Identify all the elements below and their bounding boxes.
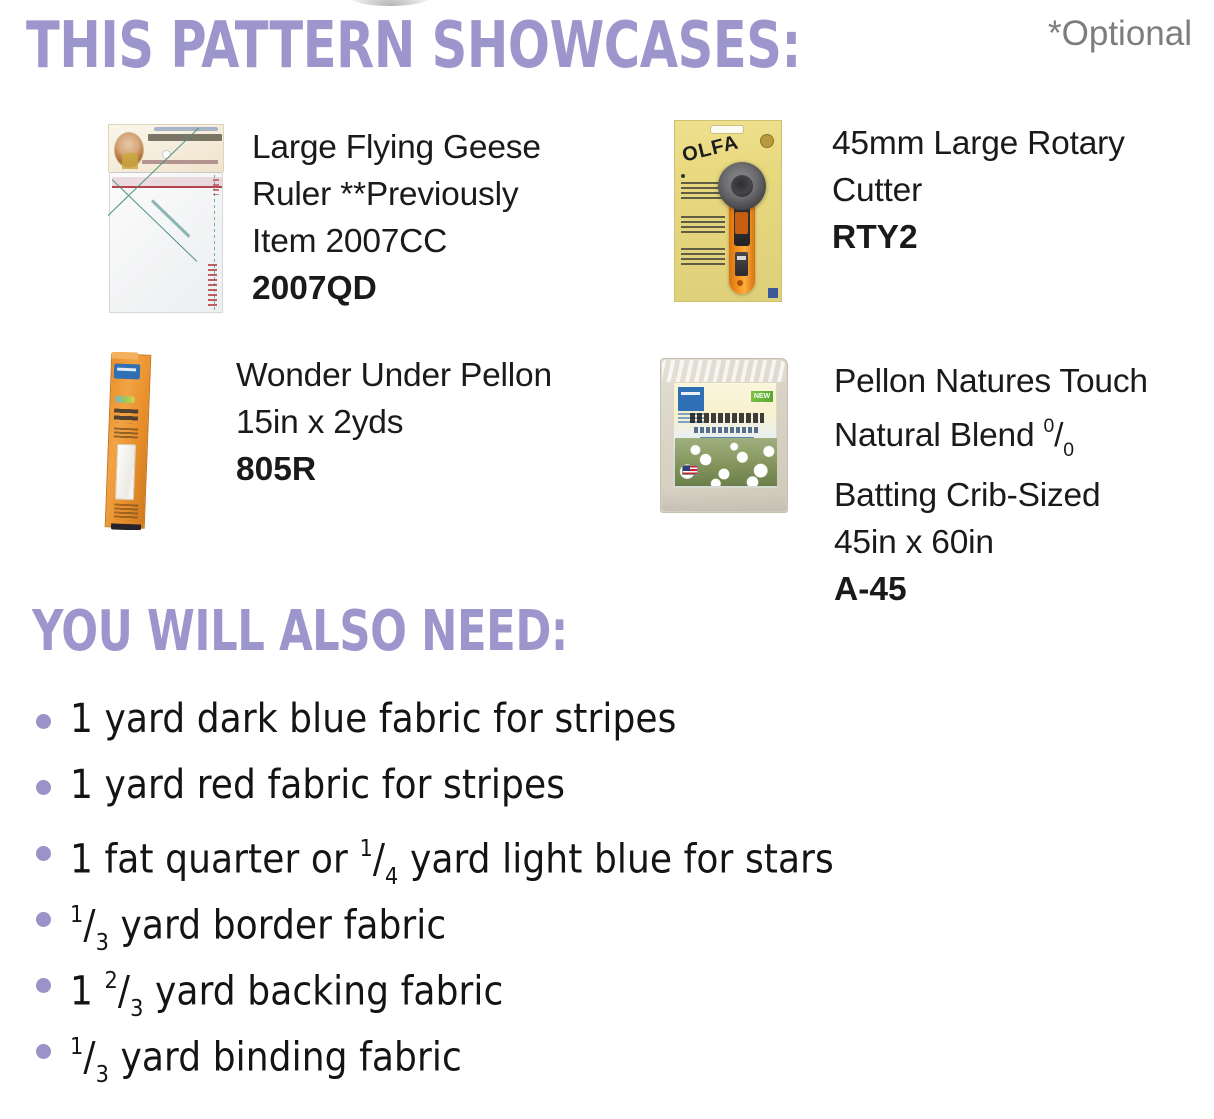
page-title-also-need: YOU WILL ALSO NEED:	[32, 604, 568, 660]
natures-touch-subtitle-text-block	[694, 427, 760, 433]
product-cutter-line-1: 45mm Large Rotary	[832, 120, 1125, 167]
product-batting-line-4: 45in x 60in	[834, 519, 1148, 566]
materials-needed-list: 1 yard dark blue fabric for stripes 1 ya…	[28, 688, 834, 1084]
fraction-numerator: 1	[70, 1033, 83, 1060]
product-item-wonder-under: Wonder Under Pellon 15in x 2yds 805R	[104, 352, 552, 530]
package-spec-text-es	[681, 248, 725, 265]
product-batting-sku: A-45	[834, 566, 1148, 613]
list-item: 1 yard red fabric for stripes	[28, 754, 834, 820]
fraction-slash: /	[1054, 417, 1063, 454]
fraction-slash: /	[83, 902, 95, 948]
cotton-field-photo	[675, 438, 777, 486]
fraction-slash: /	[118, 968, 130, 1014]
cutter-round-blade	[718, 162, 766, 210]
designer-portrait-oval	[114, 132, 144, 168]
fraction-glyph: 1/3	[70, 1018, 109, 1103]
fraction-numerator: 2	[105, 967, 118, 994]
list-item-text-post: yard backing fabric	[144, 968, 504, 1014]
list-item: 1 yard dark blue fabric for stripes	[28, 688, 834, 754]
fraction-slash: /	[373, 836, 385, 882]
list-item: 1 fat quarter or 1/4 yard light blue for…	[28, 820, 834, 886]
product-batting-line-1: Pellon Natures Touch	[834, 358, 1148, 405]
fraction-numerator: 1	[70, 901, 83, 928]
product-item-ruler: Large Flying Geese Ruler **Previously It…	[108, 124, 541, 314]
package-bullet-dot	[681, 174, 685, 178]
product-batting-description: Pellon Natures Touch Natural Blend 0/0 B…	[834, 358, 1148, 613]
fraction-denominator: 3	[96, 1061, 109, 1088]
new-badge: NEW	[751, 391, 773, 402]
pellon-color-swirl-graphic	[115, 396, 135, 404]
pellon-box-base	[111, 523, 141, 530]
product-ruler-sku: 2007QD	[252, 265, 541, 312]
product-item-batting: NEW Pellon Natures Touch Natural Blend 0…	[660, 358, 1148, 613]
product-item-rotary-cutter: OLFA 45mm Large Rotary Cutter RTY2	[674, 120, 1125, 302]
product-batting-line-2: Natural Blend 0/0	[834, 405, 1148, 472]
facebook-icon	[768, 288, 778, 298]
product-wonder-under-line-2: 15in x 2yds	[236, 399, 552, 446]
pellon-box-footer-text-block	[114, 504, 139, 521]
product-wonder-under-sku: 805R	[236, 446, 552, 493]
product-ruler-line-2: Ruler **Previously	[252, 171, 541, 218]
product-wonder-under-description: Wonder Under Pellon 15in x 2yds 805R	[236, 352, 552, 493]
pellon-box-top-flap	[112, 352, 138, 359]
batting-bag-crinkled-top	[662, 360, 786, 382]
batting-bag-bottom-seam	[662, 491, 786, 511]
product-cutter-line-2: Cutter	[832, 167, 1125, 214]
fraction-denominator: 0	[1063, 439, 1074, 461]
ruler-red-vertical-text	[208, 264, 217, 306]
product-ruler-line-1: Large Flying Geese	[252, 124, 541, 171]
natures-touch-title-text-block	[690, 413, 764, 423]
page-title-showcases: THIS PATTERN SHOWCASES:	[26, 14, 801, 78]
ruler-diagonal-line-2	[112, 179, 198, 262]
fraction-slash: /	[83, 1034, 95, 1080]
package-spec-text-fr	[681, 216, 725, 233]
package-brand-line	[154, 127, 218, 131]
list-item-text-pre: 1	[70, 968, 105, 1014]
product-ruler-description: Large Flying Geese Ruler **Previously It…	[252, 124, 541, 312]
ruler-red-corner-text	[213, 179, 219, 195]
product-cutter-sku: RTY2	[832, 214, 1125, 261]
cutter-grip-inset	[735, 212, 748, 234]
product-cutter-description: 45mm Large Rotary Cutter RTY2	[832, 120, 1125, 261]
list-item-text-post: yard light blue for stars	[398, 836, 833, 882]
cutter-handle-screw	[737, 280, 743, 286]
product-batting-line-2-text: Natural Blend	[834, 417, 1044, 454]
optional-note: *Optional	[1048, 14, 1192, 54]
pellon-box-body	[105, 353, 152, 528]
list-item-text-pre: 1 fat quarter or	[70, 836, 359, 882]
product-ruler-line-3: Item 2007CC	[252, 218, 541, 265]
product-wonder-under-line-1: Wonder Under Pellon	[236, 352, 552, 399]
olfa-45mm-rotary-cutter-package-image: OLFA	[674, 120, 782, 302]
product-batting-line-3: Batting Crib-Sized	[834, 472, 1148, 519]
list-item: 1/3 yard binding fabric	[28, 1018, 834, 1084]
fraction-numerator: 0	[1044, 415, 1055, 437]
pellon-natures-touch-batting-bag-image: NEW	[660, 358, 788, 513]
batting-bag-label: NEW	[673, 382, 777, 488]
list-item: 1/3 yard border fabric	[28, 886, 834, 952]
pellon-box-product-window	[115, 444, 136, 501]
pellon-brand-logo	[678, 387, 704, 411]
list-item-text-post: yard border fabric	[109, 902, 446, 948]
usa-flag-icon	[682, 465, 698, 475]
wonder-under-pellon-box-image	[104, 352, 156, 530]
wonder-under-subtitle-text-block	[114, 428, 138, 439]
list-item-text-post: yard binding fabric	[109, 1034, 462, 1080]
package-seal-badge	[760, 134, 774, 148]
large-flying-geese-ruler-package-image	[108, 124, 224, 314]
percent-fraction-glyph: 0/0	[1044, 405, 1074, 472]
list-item: 1 2/3 yard backing fabric	[28, 952, 834, 1018]
package-subtitle-text-block	[142, 160, 218, 164]
ruler-diagonal-marking	[151, 199, 190, 237]
fraction-numerator: 1	[359, 835, 372, 862]
acrylic-ruler-body	[109, 172, 223, 313]
ruler-red-line	[112, 186, 222, 188]
list-item-text-pre: 1 yard red fabric for stripes	[70, 762, 565, 808]
pellon-brand-logo	[114, 364, 141, 380]
list-item-text-pre: 1 yard dark blue fabric for stripes	[70, 696, 677, 742]
cutter-blade-guard-slider	[735, 252, 748, 276]
wonder-under-name-text-block	[114, 409, 139, 424]
cropped-image-shadow-artifact	[348, 0, 432, 6]
